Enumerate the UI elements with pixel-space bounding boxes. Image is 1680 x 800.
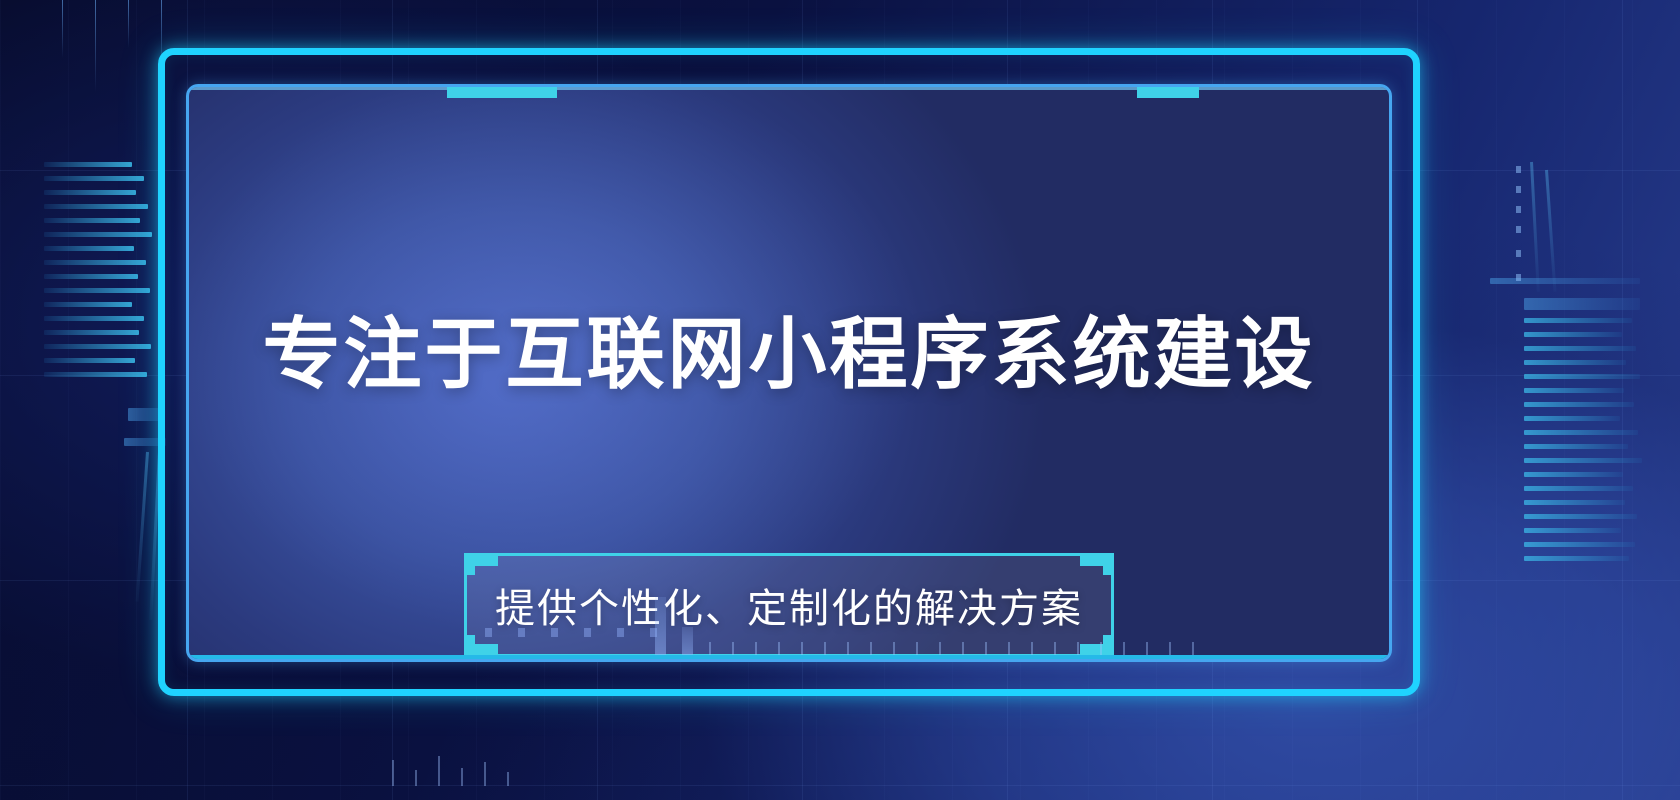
right-slab-decor bbox=[1490, 278, 1640, 284]
right-square-decor bbox=[1516, 166, 1521, 173]
left-tick-decor bbox=[44, 162, 154, 377]
panel-bar-decor bbox=[655, 597, 666, 659]
panel-top-accent-line bbox=[189, 87, 1389, 90]
panel-top-accent-cap-right bbox=[1137, 87, 1199, 98]
inner-panel: 专注于互联网小程序系统建设 提供个性化、定制化的解决方案 bbox=[186, 84, 1392, 662]
hairline-decor bbox=[62, 0, 63, 58]
right-square-decor bbox=[1516, 274, 1521, 281]
hairline-decor bbox=[128, 0, 129, 48]
page-title: 专注于互联网小程序系统建设 bbox=[189, 315, 1389, 393]
right-square-decor bbox=[1516, 206, 1521, 213]
right-square-decor bbox=[1516, 226, 1521, 233]
right-slab-decor bbox=[1524, 298, 1640, 310]
right-square-decor bbox=[1516, 186, 1521, 193]
panel-mini-ticks bbox=[709, 642, 1194, 655]
panel-top-accent-cap-left bbox=[447, 87, 557, 98]
right-tick-decor bbox=[1524, 318, 1644, 561]
hairline-decor bbox=[95, 0, 96, 92]
panel-dot-decor bbox=[485, 628, 657, 637]
right-square-decor bbox=[1516, 250, 1521, 257]
hero-banner: 专注于互联网小程序系统建设 提供个性化、定制化的解决方案 bbox=[0, 0, 1680, 800]
panel-baseline bbox=[189, 655, 1389, 659]
bottom-outer-ticks bbox=[392, 756, 509, 786]
